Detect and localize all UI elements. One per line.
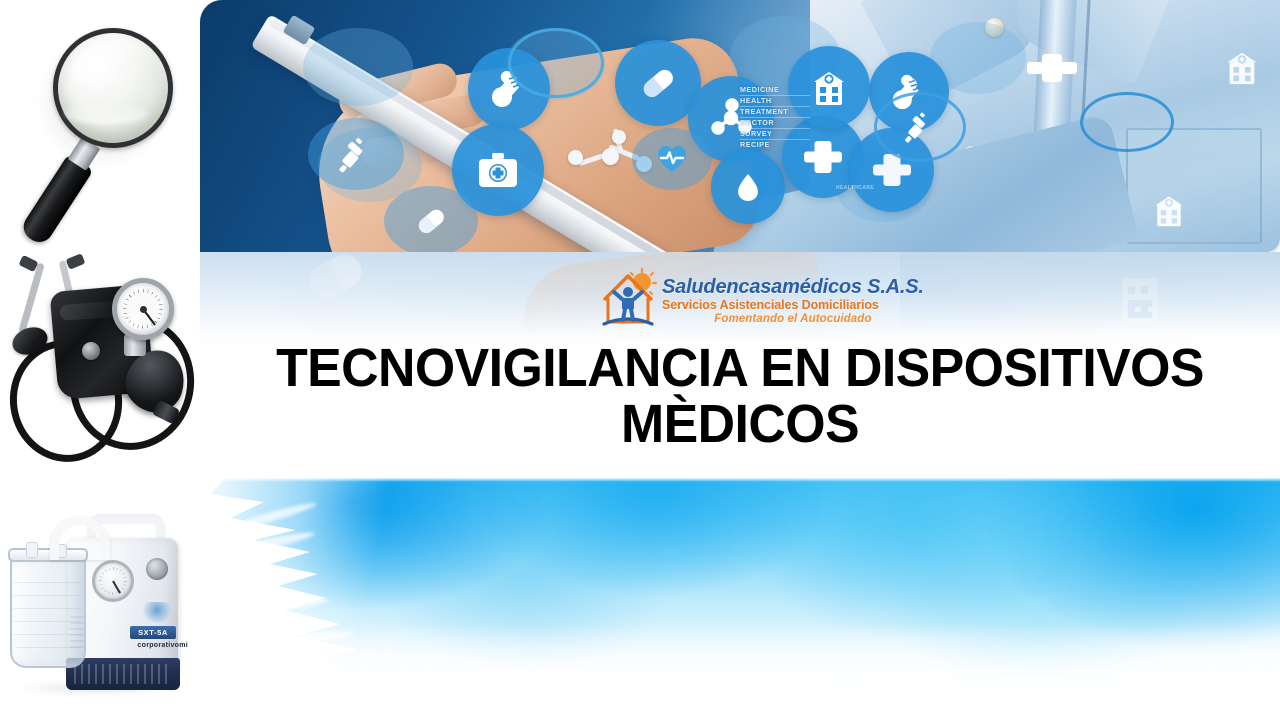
suction-model-badge: SXT-5A bbox=[130, 626, 176, 639]
page-title-line-2: MÈDICOS bbox=[621, 394, 859, 454]
syringe-ring-icon-bubble bbox=[874, 92, 966, 162]
house-with-person-and-sun-logo-icon bbox=[598, 268, 660, 330]
water-drop-icon bbox=[731, 170, 765, 204]
decorative-ring bbox=[1080, 92, 1174, 152]
capsule-pill-icon bbox=[411, 201, 451, 241]
left-device-photo-column: SXT-5A corporativomi bbox=[0, 0, 200, 720]
banner-mini-text: HEALTHCARE bbox=[836, 185, 874, 191]
keyword-medicine: MEDICINE bbox=[740, 86, 810, 96]
sphygmomanometer-photo bbox=[0, 250, 200, 485]
banner-keyword-list: MEDICINE HEALTH TREATMENT DOCTOR SURVEY … bbox=[740, 86, 810, 152]
ghost-capsule-pill-icon bbox=[306, 252, 367, 302]
heart-pulse-icon bbox=[654, 141, 690, 177]
clipboard-medical-icon bbox=[1150, 190, 1188, 235]
suction-control-knob bbox=[146, 558, 168, 580]
keyword-treatment: TREATMENT bbox=[740, 108, 810, 118]
first-aid-kit-icon bbox=[474, 146, 522, 194]
company-logo: Saludencasamédicos S.A.S. Servicios Asis… bbox=[598, 268, 928, 332]
suction-base-vents bbox=[74, 664, 172, 684]
capsule-pill-icon bbox=[636, 61, 680, 105]
hospital-building-icon bbox=[808, 66, 850, 108]
suction-watermark: corporativomi bbox=[112, 642, 188, 649]
jar-port-left bbox=[26, 542, 38, 558]
keyword-health: HEALTH bbox=[740, 97, 810, 107]
keyword-recipe: RECIPE bbox=[740, 141, 810, 150]
suction-machine-photo: SXT-5A corporativomi bbox=[0, 490, 200, 720]
magnifier-lens-highlight-lower bbox=[64, 102, 148, 124]
footer-bottom-fade bbox=[200, 624, 1280, 720]
fade-shirt-ghost bbox=[900, 252, 1280, 352]
vacuum-gauge bbox=[92, 560, 134, 602]
slide-canvas: MEDICINE HEALTH TREATMENT DOCTOR SURVEY … bbox=[0, 0, 1280, 720]
capsule-pill-icon-bubble bbox=[384, 186, 478, 252]
collection-jar-graduations bbox=[14, 582, 82, 652]
medical-cross-icon bbox=[1026, 52, 1078, 89]
decorative-bubble bbox=[303, 28, 413, 106]
stethoscope-tip-right bbox=[66, 253, 86, 270]
keyword-doctor: DOCTOR bbox=[740, 119, 810, 129]
syringe-icon-bubble bbox=[308, 118, 404, 190]
ghost-hospital-building-icon bbox=[1122, 278, 1158, 322]
syringe-icon bbox=[336, 134, 376, 174]
gauge-hub bbox=[140, 306, 147, 313]
stethoscope-earpiece-left bbox=[18, 262, 45, 333]
cuff-metal-ring bbox=[82, 342, 100, 360]
logo-slogan: Fomentando el Autocuidado bbox=[662, 312, 924, 326]
header-medical-banner-image: MEDICINE HEALTH TREATMENT DOCTOR SURVEY … bbox=[200, 0, 1280, 252]
logo-company-name: Saludencasamédicos S.A.S. bbox=[662, 277, 924, 298]
page-title: TECNOVIGILANCIA EN DISPOSITIVOS MÈDICOS bbox=[222, 340, 1259, 452]
footer-top-highlight bbox=[200, 478, 1280, 482]
suction-manufacturer-mark bbox=[140, 602, 174, 622]
water-drop-icon-bubble bbox=[711, 150, 785, 224]
heart-pulse-icon-bubble bbox=[632, 128, 712, 190]
logo-tagline: Servicios Asistenciales Domiciliarios bbox=[662, 298, 924, 312]
hospital-building-icon bbox=[1222, 46, 1262, 93]
syringe-icon bbox=[902, 109, 938, 145]
page-title-line-1: TECNOVIGILANCIA EN DISPOSITIVOS bbox=[276, 338, 1204, 398]
magnifying-glass-photo bbox=[0, 0, 200, 250]
keyword-survey: SURVEY bbox=[740, 130, 810, 140]
decorative-ring bbox=[508, 28, 604, 98]
pressure-gauge bbox=[112, 278, 174, 340]
watercolor-blue-footer bbox=[200, 478, 1280, 720]
